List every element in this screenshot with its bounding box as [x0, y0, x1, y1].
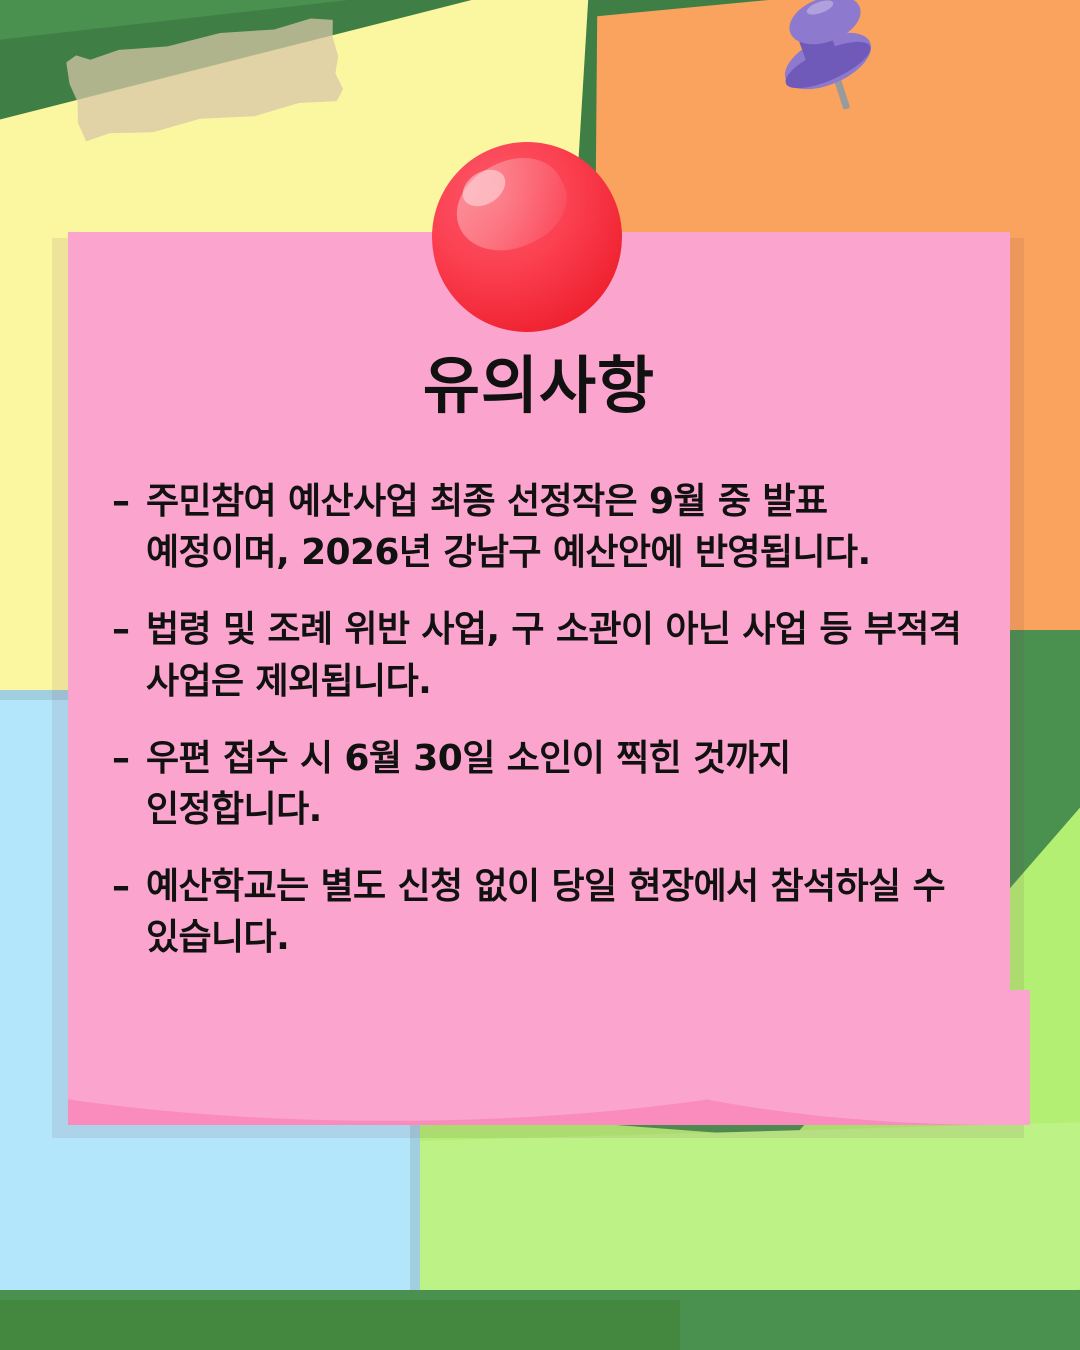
green-bottom-strip-left	[0, 1300, 680, 1350]
bullet-dash-icon: –	[112, 476, 146, 527]
notice-list: – 주민참여 예산사업 최종 선정작은 9월 중 발표 예정이며, 2026년 …	[112, 476, 966, 963]
list-item: – 주민참여 예산사업 최종 선정작은 9월 중 발표 예정이며, 2026년 …	[112, 476, 966, 578]
poster-canvas: 유의사항 – 주민참여 예산사업 최종 선정작은 9월 중 발표 예정이며, 2…	[0, 0, 1080, 1350]
notice-text: 법령 및 조례 위반 사업, 구 소관이 아닌 사업 등 부적격 사업은 제외됩…	[146, 604, 966, 706]
notice-text: 예산학교는 별도 신청 없이 당일 현장에서 참석하실 수 있습니다.	[146, 861, 966, 963]
page-title: 유의사항	[112, 352, 966, 420]
bullet-dash-icon: –	[112, 861, 146, 912]
list-item: – 예산학교는 별도 신청 없이 당일 현장에서 참석하실 수 있습니다.	[112, 861, 966, 963]
list-item: – 우편 접수 시 6월 30일 소인이 찍힌 것까지 인정합니다.	[112, 733, 966, 835]
list-item: – 법령 및 조례 위반 사업, 구 소관이 아닌 사업 등 부적격 사업은 제…	[112, 604, 966, 706]
bullet-dash-icon: –	[112, 604, 146, 655]
notice-text: 우편 접수 시 6월 30일 소인이 찍힌 것까지 인정합니다.	[146, 733, 966, 835]
notice-text: 주민참여 예산사업 최종 선정작은 9월 중 발표 예정이며, 2026년 강남…	[146, 476, 966, 578]
bullet-dash-icon: –	[112, 733, 146, 784]
notice-content: 유의사항 – 주민참여 예산사업 최종 선정작은 9월 중 발표 예정이며, 2…	[68, 232, 1010, 1112]
